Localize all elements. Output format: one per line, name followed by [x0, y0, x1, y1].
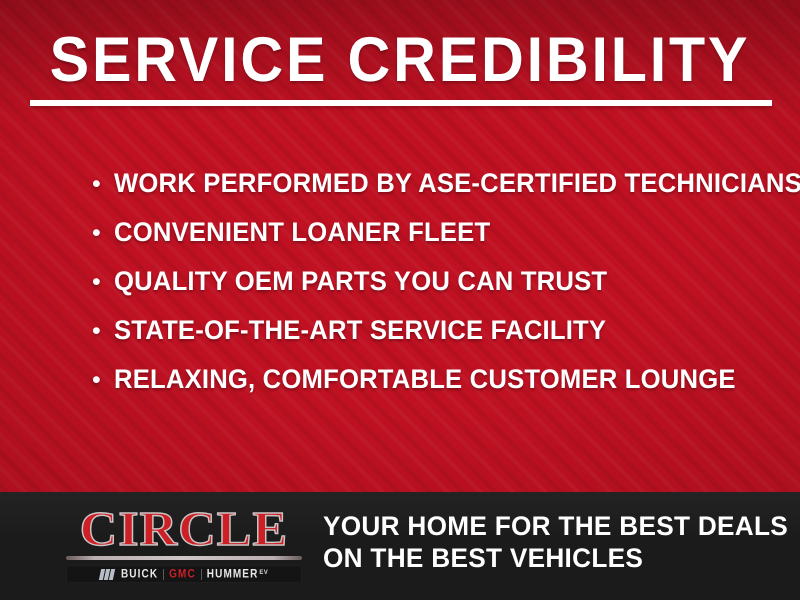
list-item: • STATE-OF-THE-ART SERVICE FACILITY — [92, 315, 772, 364]
list-item: • CONVENIENT LOANER FLEET — [92, 217, 772, 266]
list-item: • WORK PERFORMED BY ASE-CERTIFIED TECHNI… — [92, 168, 772, 217]
bullet-point-icon: • — [92, 169, 114, 199]
list-item-label: QUALITY OEM PARTS YOU CAN TRUST — [114, 266, 607, 296]
footer-bar: CIRCLE BUICK GMC HUMMER EV YOUR HOME FOR… — [0, 492, 800, 600]
logo-divider-bar — [66, 556, 302, 560]
dealer-logo: CIRCLE BUICK GMC HUMMER EV — [66, 504, 302, 583]
list-item-label: CONVENIENT LOANER FLEET — [114, 217, 490, 247]
list-item-label: RELAXING, COMFORTABLE CUSTOMER LOUNGE — [114, 364, 736, 394]
footer-tagline: YOUR HOME FOR THE BEST DEALS ON THE BEST… — [323, 510, 788, 574]
brand-separator-icon — [201, 569, 202, 580]
title-underline-rule — [30, 100, 772, 106]
footer-tagline-line-1: YOUR HOME FOR THE BEST DEALS — [323, 510, 788, 542]
service-credibility-slide: SERVICE CREDIBILITY • WORK PERFORMED BY … — [0, 0, 800, 600]
bullet-point-icon: • — [92, 218, 114, 248]
brand-separator-icon — [163, 569, 164, 580]
footer-tagline-line-2: ON THE BEST VEHICLES — [323, 542, 788, 574]
list-item: • QUALITY OEM PARTS YOU CAN TRUST — [92, 266, 772, 315]
brand-label-buick: BUICK — [121, 568, 158, 581]
brand-label-hummer-ev-suffix: EV — [259, 569, 268, 577]
list-item: • RELAXING, COMFORTABLE CUSTOMER LOUNGE — [92, 364, 772, 413]
page-title: SERVICE CREDIBILITY — [24, 26, 776, 94]
list-item-label: WORK PERFORMED BY ASE-CERTIFIED TECHNICI… — [114, 168, 800, 198]
benefits-list: • WORK PERFORMED BY ASE-CERTIFIED TECHNI… — [92, 168, 772, 413]
brand-label-hummer-group: HUMMER EV — [207, 569, 268, 580]
dealer-wordmark: CIRCLE — [59, 504, 309, 554]
bullet-point-icon: • — [92, 365, 114, 395]
bullet-point-icon: • — [92, 316, 114, 346]
brand-strip: BUICK GMC HUMMER EV — [66, 565, 302, 583]
bullet-point-icon: • — [92, 267, 114, 297]
buick-tri-shield-icon — [100, 569, 114, 580]
brand-label-hummer: HUMMER — [207, 568, 259, 581]
brand-label-gmc: GMC — [169, 568, 196, 581]
list-item-label: STATE-OF-THE-ART SERVICE FACILITY — [114, 315, 606, 345]
